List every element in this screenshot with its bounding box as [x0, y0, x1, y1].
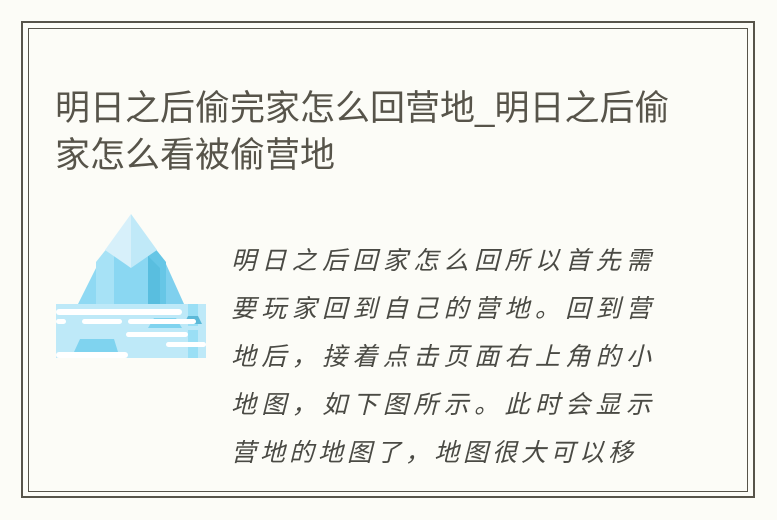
article-body: 明日之后回家怎么回所以首先需要玩家回到自己的营地。回到营地后，接着点击页面右上角…	[231, 237, 655, 477]
iceberg-illustration	[56, 206, 206, 358]
page-title: 明日之后偷完家怎么回营地_明日之后偷家怎么看被偷营地	[55, 85, 675, 179]
article-content: 明日之后回家怎么回所以首先需要玩家回到自己的营地。回到营地后，接着点击页面右上角…	[0, 200, 777, 380]
page-root: 明日之后偷完家怎么回营地_明日之后偷家怎么看被偷营地	[0, 0, 777, 520]
